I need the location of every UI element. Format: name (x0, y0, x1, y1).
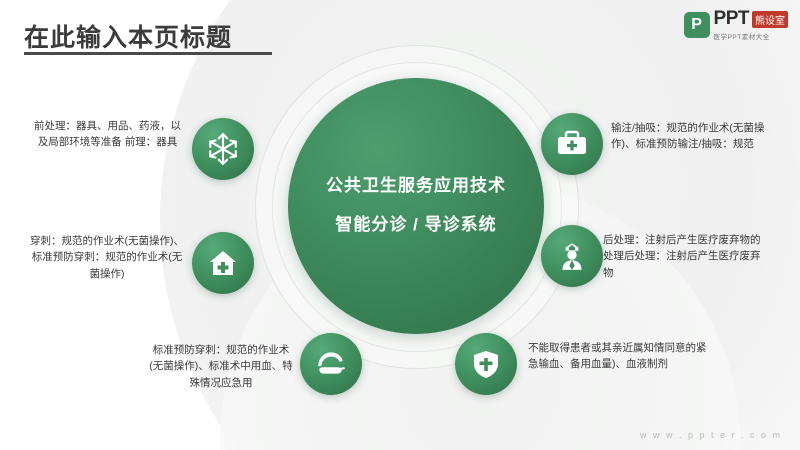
node-label-4: 不能取得患者或其亲近属知情同意的紧急输血、备用血量)、血液制剂 (528, 340, 708, 373)
center-title-line2: 智能分诊 / 导诊系统 (335, 216, 496, 235)
site-watermark: w w w . p p t e r . c o m (640, 430, 782, 440)
doctor-icon (555, 239, 589, 273)
hand-care-icon (314, 347, 348, 381)
logo-text: PPT 熊设室 医学PPT素材大全 (714, 8, 788, 41)
node-doctor[interactable] (541, 225, 603, 287)
node-shield-medical[interactable] (455, 333, 517, 395)
logo-name: PPT (714, 8, 749, 30)
node-label-1: 前处理：器具、用品、药液，以及局部环境等准备 前理：器具 (30, 118, 185, 151)
shield-medical-icon (470, 348, 502, 380)
node-label-5: 后处理：注射后产生医疗废弃物的处理后处理：注射后产生医疗废弃物 (603, 232, 765, 281)
brand-logo: P PPT 熊设室 医学PPT素材大全 (684, 8, 788, 41)
center-title-line1: 公共卫生服务应用技术 (326, 177, 506, 196)
node-snowflake[interactable] (192, 118, 254, 180)
node-hand-care[interactable] (300, 333, 362, 395)
logo-tag: 熊设室 (752, 11, 788, 28)
logo-badge-icon: P (684, 12, 710, 38)
node-label-6: 输注/抽吸：规范的作业术(无菌操作)、标准预防输注/抽吸：规范 (611, 120, 771, 153)
page-title: 在此输入本页标题 (24, 18, 232, 54)
node-label-3: 标准预防穿刺：规范的作业术(无菌操作)、标准术中用血、特殊情况应急用 (148, 342, 294, 391)
node-label-2: 穿刺：规范的作业术(无菌操作)、标准预防穿刺：规范的作业术(无菌操作) (28, 233, 186, 282)
medical-kit-icon (555, 129, 589, 159)
node-medical-kit[interactable] (541, 113, 603, 175)
center-circle: 公共卫生服务应用技术 智能分诊 / 导诊系统 (288, 78, 544, 334)
logo-subtitle: 医学PPT素材大全 (714, 31, 788, 41)
logo-main-row: PPT 熊设室 (714, 8, 788, 30)
title-underline (24, 52, 272, 55)
snowflake-icon (206, 132, 240, 166)
slide-canvas: 在此输入本页标题 P PPT 熊设室 医学PPT素材大全 公共卫生服务应用技术 … (0, 0, 800, 450)
node-home-cross[interactable] (192, 232, 254, 294)
home-cross-icon (207, 247, 239, 279)
